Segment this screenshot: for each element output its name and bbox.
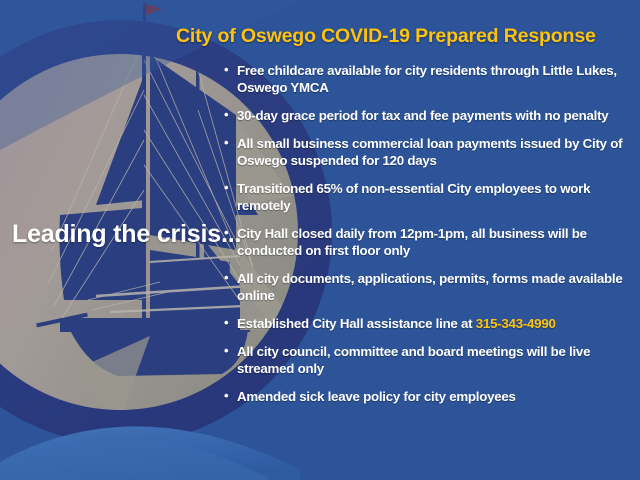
list-item: All city council, committee and board me…: [224, 343, 630, 377]
list-item: Free childcare available for city reside…: [224, 62, 630, 96]
list-item-text: City Hall closed daily from 12pm-1pm, al…: [237, 226, 587, 258]
list-item: Transitioned 65% of non-essential City e…: [224, 180, 630, 214]
slide-heading: City of Oswego COVID-19 Prepared Respons…: [176, 25, 626, 48]
list-item: Amended sick leave policy for city emplo…: [224, 388, 630, 405]
page-title: Leading the crisis...: [12, 220, 241, 249]
list-item-text: Transitioned 65% of non-essential City e…: [237, 181, 590, 213]
pennant-flag: [143, 2, 162, 24]
response-measures-list: Free childcare available for city reside…: [224, 62, 630, 416]
list-item-text: All small business commercial loan payme…: [237, 136, 622, 168]
list-item: All small business commercial loan payme…: [224, 135, 630, 169]
list-item-text: Amended sick leave policy for city emplo…: [237, 389, 516, 404]
list-item-text: 30-day grace period for tax and fee paym…: [237, 108, 608, 123]
list-item-text: All city council, committee and board me…: [237, 344, 590, 376]
list-item: 30-day grace period for tax and fee paym…: [224, 107, 630, 124]
list-item: City Hall closed daily from 12pm-1pm, al…: [224, 225, 630, 259]
list-item-text: All city documents, applications, permit…: [237, 271, 623, 303]
list-item-text: Established City Hall assistance line at: [237, 316, 476, 331]
list-item-text: Free childcare available for city reside…: [237, 63, 617, 95]
assistance-phone-number: 315-343-4990: [476, 316, 556, 331]
list-item: All city documents, applications, permit…: [224, 270, 630, 304]
presentation-slide: Leading the crisis... City of Oswego COV…: [0, 0, 640, 480]
list-item-assistance-line: Established City Hall assistance line at…: [224, 315, 630, 332]
